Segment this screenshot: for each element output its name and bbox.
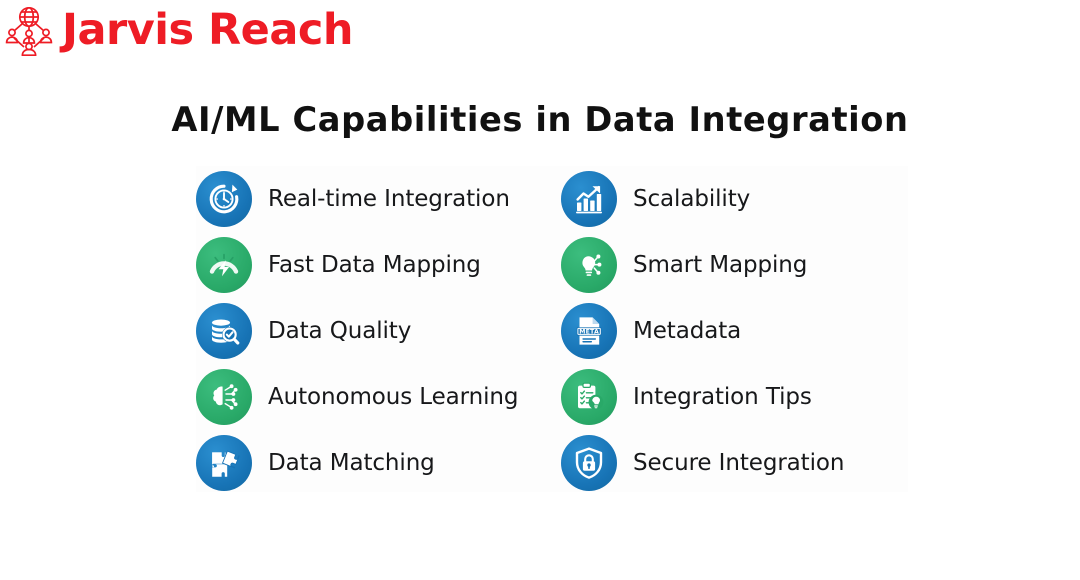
lightbulb-network-icon: [561, 237, 617, 293]
feature-label: Scalability: [633, 188, 750, 211]
feature-autonomous-learning[interactable]: Autonomous Learning: [196, 366, 561, 428]
feature-fast-data-mapping[interactable]: Fast Data Mapping: [196, 234, 561, 296]
speedometer-bolt-icon: [196, 237, 252, 293]
feature-label: Autonomous Learning: [268, 386, 518, 409]
feature-label: Integration Tips: [633, 386, 812, 409]
globe-network-people-icon: [4, 4, 54, 56]
feature-scalability[interactable]: Scalability: [561, 168, 908, 230]
feature-label: Fast Data Mapping: [268, 254, 481, 277]
feature-real-time-integration[interactable]: Real-time Integration: [196, 168, 561, 230]
page-title: AI/ML Capabilities in Data Integration: [5, 100, 1074, 141]
capabilities-grid: Real-time Integration Scalability: [196, 166, 908, 492]
feature-label: Secure Integration: [633, 452, 844, 475]
feature-smart-mapping[interactable]: Smart Mapping: [561, 234, 908, 296]
feature-metadata[interactable]: META Metadata: [561, 300, 908, 362]
feature-label: Real-time Integration: [268, 188, 510, 211]
feature-label: Data Quality: [268, 320, 411, 343]
feature-label: Metadata: [633, 320, 741, 343]
brain-circuit-icon: [196, 369, 252, 425]
feature-data-matching[interactable]: Data Matching: [196, 432, 561, 494]
feature-data-quality[interactable]: Data Quality: [196, 300, 561, 362]
document-meta-icon: META: [561, 303, 617, 359]
clipboard-lightbulb-icon: [561, 369, 617, 425]
brand-logo: Jarvis Reach: [4, 2, 353, 58]
feature-label: Data Matching: [268, 452, 435, 475]
feature-secure-integration[interactable]: Secure Integration: [561, 432, 908, 494]
slide-canvas: Jarvis Reach AI/ML Capabilities in Data …: [0, 0, 1080, 580]
feature-integration-tips[interactable]: Integration Tips: [561, 366, 908, 428]
growth-chart-arrow-icon: [561, 171, 617, 227]
feature-label: Smart Mapping: [633, 254, 807, 277]
database-magnifier-check-icon: [196, 303, 252, 359]
shield-lock-icon: [561, 435, 617, 491]
clock-refresh-icon: [196, 171, 252, 227]
puzzle-pieces-icon: [196, 435, 252, 491]
svg-text:META: META: [579, 329, 599, 336]
brand-name: Jarvis Reach: [62, 9, 353, 52]
